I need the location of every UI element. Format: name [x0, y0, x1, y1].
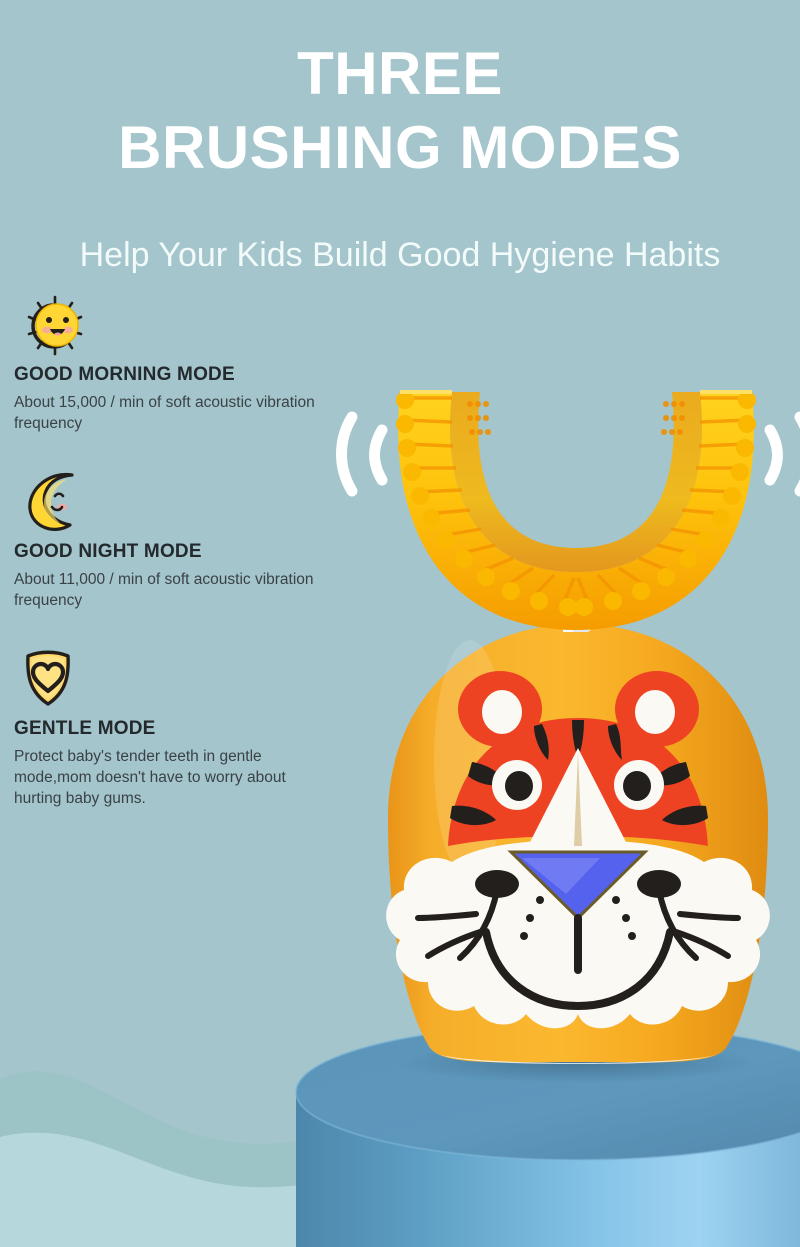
tiger-whiskers	[418, 890, 738, 958]
feature-description: About 11,000 / min of soft acoustic vibr…	[14, 569, 324, 612]
tiger-freckles	[520, 896, 636, 940]
feature-item-good-night: GOOD NIGHT MODE About 11,000 / min of so…	[14, 469, 364, 612]
tiger-face-graphic	[386, 671, 770, 1028]
background-waves	[0, 987, 800, 1247]
feature-description: About 15,000 / min of soft acoustic vibr…	[14, 392, 324, 435]
feature-item-gentle: GENTLE MODE Protect baby's tender teeth …	[14, 646, 364, 810]
tiger-nose-bridge	[528, 748, 628, 852]
sun-icon	[14, 292, 364, 358]
brush-bristle-ribs	[455, 400, 697, 550]
feature-title: GOOD MORNING MODE	[14, 364, 364, 386]
tiger-ear-left	[458, 671, 542, 747]
feature-title: GENTLE MODE	[14, 718, 364, 740]
tiger-nose	[511, 852, 645, 918]
brush-neck	[563, 596, 591, 632]
brush-bottom-scallops	[396, 391, 756, 616]
page-subtitle: Help Your Kids Build Good Hygiene Habits	[0, 236, 800, 275]
brush-nub-texture	[467, 401, 685, 435]
tiger-forehead	[448, 718, 708, 846]
feature-title: GOOD NIGHT MODE	[14, 541, 364, 563]
infographic-canvas: THREE BRUSHING MODES Help Your Kids Buil…	[0, 0, 800, 1247]
u-shaped-silicone-brush-head	[396, 391, 756, 630]
page-title: THREE BRUSHING MODES	[0, 44, 800, 178]
sound-wave-right-icon	[770, 417, 800, 491]
feature-description: Protect baby's tender teeth in gentle mo…	[14, 746, 324, 810]
title-line-1: THREE	[0, 44, 800, 104]
feature-item-good-morning: GOOD MORNING MODE About 15,000 / min of …	[14, 292, 364, 435]
tiger-ear-right	[615, 671, 699, 747]
title-line-2: BRUSHING MODES	[0, 118, 800, 178]
shield-heart-icon	[14, 646, 364, 712]
crescent-moon-icon	[14, 469, 364, 535]
tiger-eye-left	[492, 760, 542, 810]
tiger-eye-right	[614, 760, 664, 810]
feature-list: GOOD MORNING MODE About 15,000 / min of …	[14, 292, 364, 810]
